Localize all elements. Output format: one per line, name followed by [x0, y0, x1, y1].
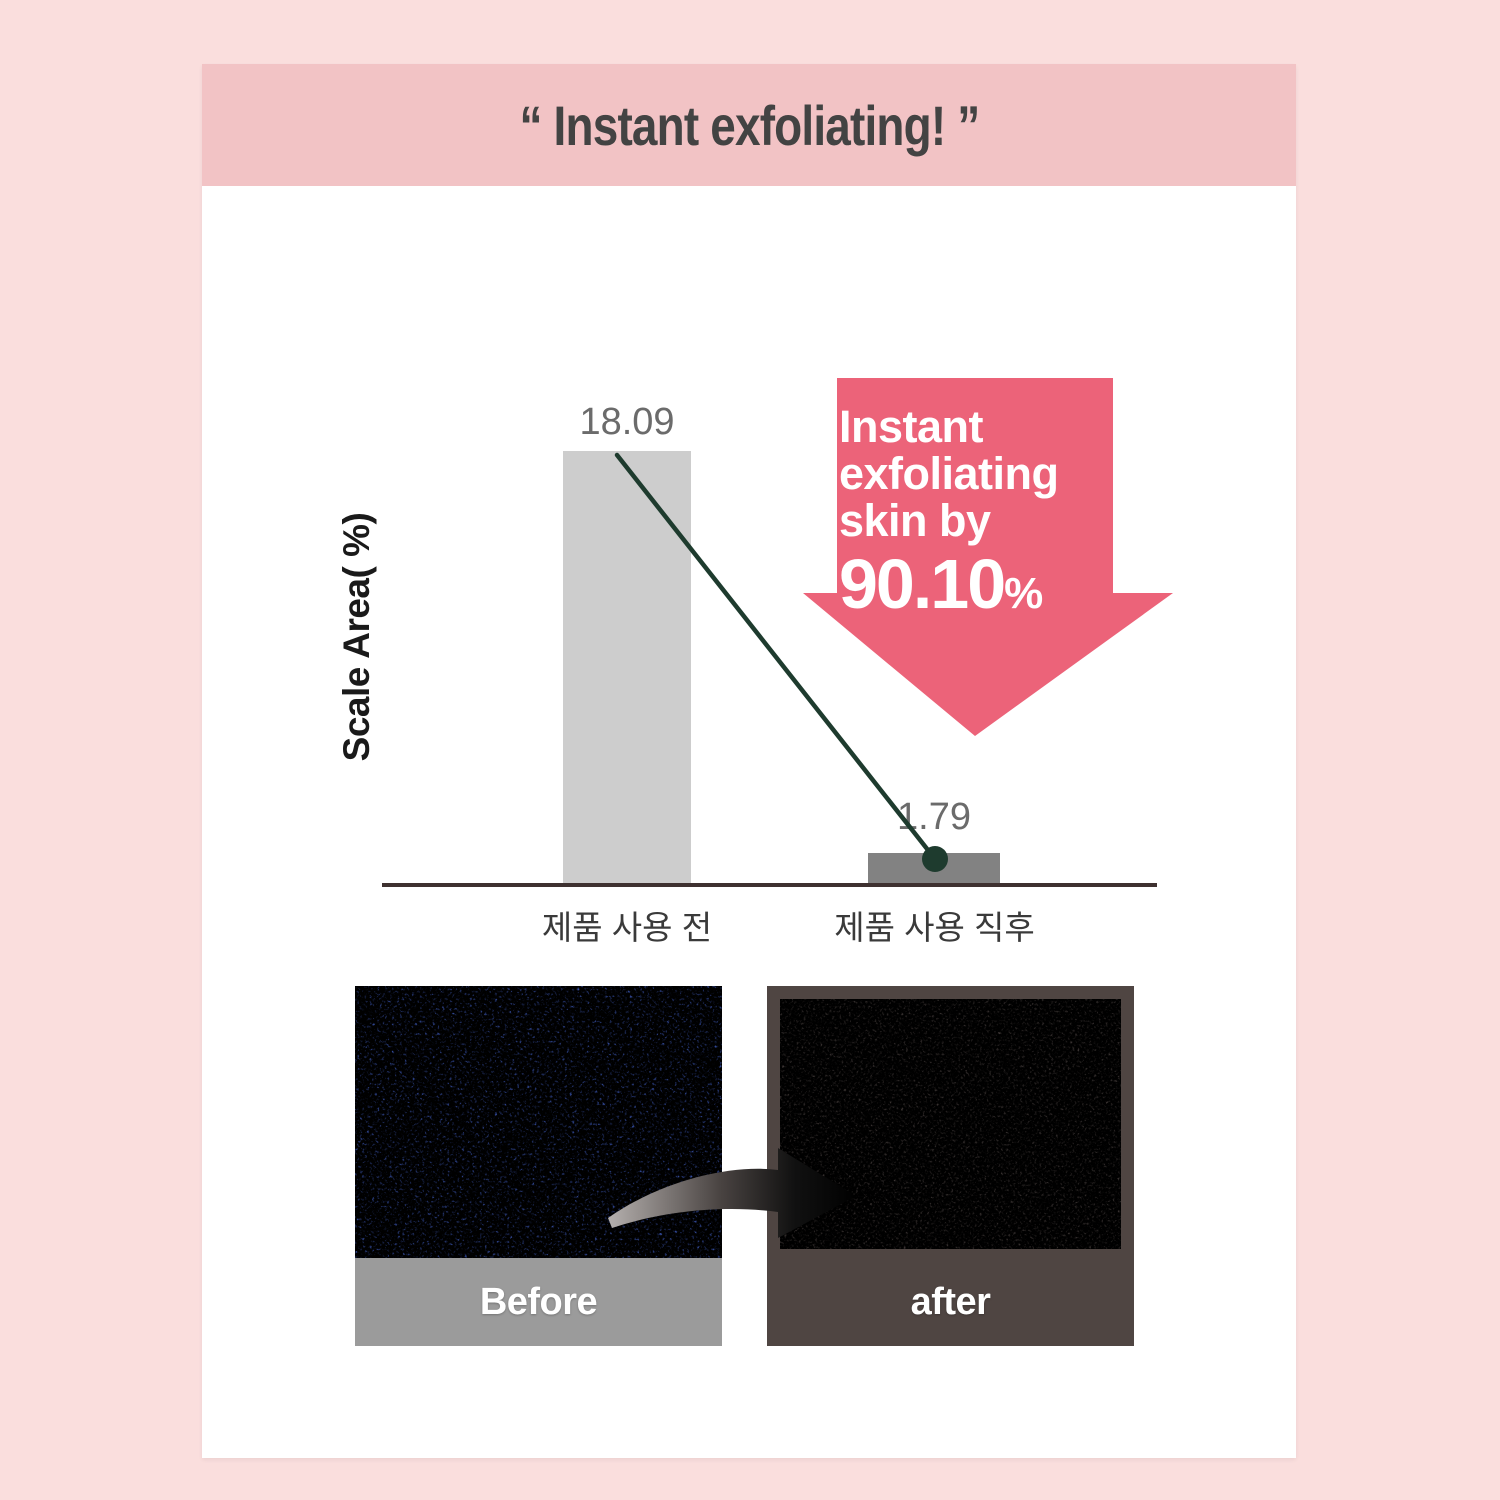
content-card: “ Instant exfoliating! ” Scale Area( %) … — [202, 64, 1296, 1458]
callout-arrow: Instant exfoliating skin by 90.10% — [803, 378, 1173, 738]
header-banner: “ Instant exfoliating! ” — [202, 64, 1296, 186]
callout-value-row: 90.10% — [839, 548, 1139, 621]
panel-caption-before: Before — [355, 1258, 722, 1346]
callout-unit: % — [1004, 569, 1042, 618]
bar-chart: Scale Area( %) 18.09 1.79 제품 사용 전 제품 사용 … — [202, 186, 1296, 986]
bar-value-before: 18.09 — [563, 401, 691, 444]
category-label-before: 제품 사용 전 — [532, 901, 722, 949]
x-axis-line — [382, 883, 1157, 887]
comparison-section: Before — [202, 986, 1296, 1406]
bar-before — [563, 451, 691, 883]
y-axis-label: Scale Area( %) — [336, 477, 378, 797]
curved-right-arrow-icon — [602, 1146, 862, 1256]
category-label-after: 제품 사용 직후 — [827, 901, 1042, 949]
callout-line-3: skin by — [839, 498, 1139, 545]
page-title: “ Instant exfoliating! ” — [519, 93, 979, 158]
bar-after — [868, 853, 1000, 883]
panel-caption-after: after — [767, 1258, 1134, 1346]
callout-line-1: Instant — [839, 404, 1139, 451]
poster-root: “ Instant exfoliating! ” Scale Area( %) … — [0, 0, 1500, 1500]
callout-value: 90.10 — [839, 545, 1004, 623]
callout-line-2: exfoliating — [839, 451, 1139, 498]
bar-value-after: 1.79 — [868, 796, 1000, 839]
callout-text-block: Instant exfoliating skin by 90.10% — [839, 404, 1139, 621]
